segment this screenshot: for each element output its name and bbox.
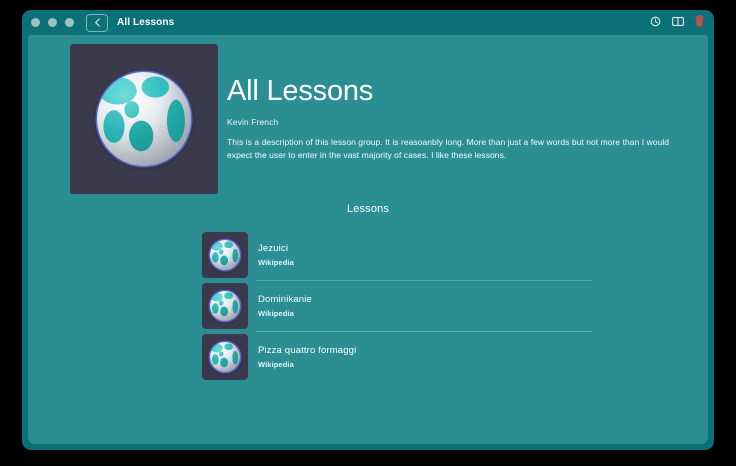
list-item[interactable]: Pizza quattro formaggi Wikipedia <box>202 331 592 382</box>
history-icon[interactable] <box>650 14 661 32</box>
globe-icon <box>210 342 240 372</box>
lesson-text: Jezuici Wikipedia <box>258 243 294 267</box>
description-text: This is a description of this lesson gro… <box>227 136 690 162</box>
lesson-thumbnail <box>202 334 248 380</box>
lesson-title: Dominikanie <box>258 294 312 305</box>
chevron-left-icon <box>94 18 101 27</box>
close-button[interactable] <box>31 18 40 27</box>
list-item[interactable]: Dominikanie Wikipedia <box>202 280 592 331</box>
content-area: All Lessons Kevin French This is a descr… <box>28 35 708 444</box>
lesson-list: Jezuici Wikipedia Dominikanie Wikipedia <box>202 229 592 382</box>
lesson-thumbnail <box>202 283 248 329</box>
book-icon[interactable] <box>672 14 684 32</box>
list-item[interactable]: Jezuici Wikipedia <box>202 229 592 280</box>
author-label: Kevin French <box>227 117 690 127</box>
minimize-button[interactable] <box>48 18 57 27</box>
lesson-source: Wikipedia <box>258 309 312 318</box>
lesson-group-info: All Lessons Kevin French This is a descr… <box>227 74 690 162</box>
lesson-title: Pizza quattro formaggi <box>258 345 356 356</box>
lesson-group-header: All Lessons Kevin French This is a descr… <box>70 44 690 200</box>
lesson-title: Jezuici <box>258 243 294 254</box>
titlebar-actions <box>650 10 704 35</box>
lesson-text: Pizza quattro formaggi Wikipedia <box>258 345 356 369</box>
app-window: All Lessons <box>22 10 714 450</box>
zoom-button[interactable] <box>65 18 74 27</box>
lessons-section-heading: Lessons <box>28 203 708 215</box>
window-titlebar: All Lessons <box>22 10 714 35</box>
traffic-light-group <box>31 18 74 27</box>
window-title: All Lessons <box>117 17 174 28</box>
trash-icon[interactable] <box>695 14 704 32</box>
lesson-group-artwork <box>70 44 218 194</box>
lesson-source: Wikipedia <box>258 360 356 369</box>
lesson-thumbnail <box>202 232 248 278</box>
globe-icon <box>210 291 240 321</box>
globe-icon <box>210 240 240 270</box>
globe-icon <box>97 72 191 166</box>
back-button[interactable] <box>86 14 108 32</box>
lesson-text: Dominikanie Wikipedia <box>258 294 312 318</box>
page-title: All Lessons <box>227 74 690 108</box>
lesson-source: Wikipedia <box>258 258 294 267</box>
